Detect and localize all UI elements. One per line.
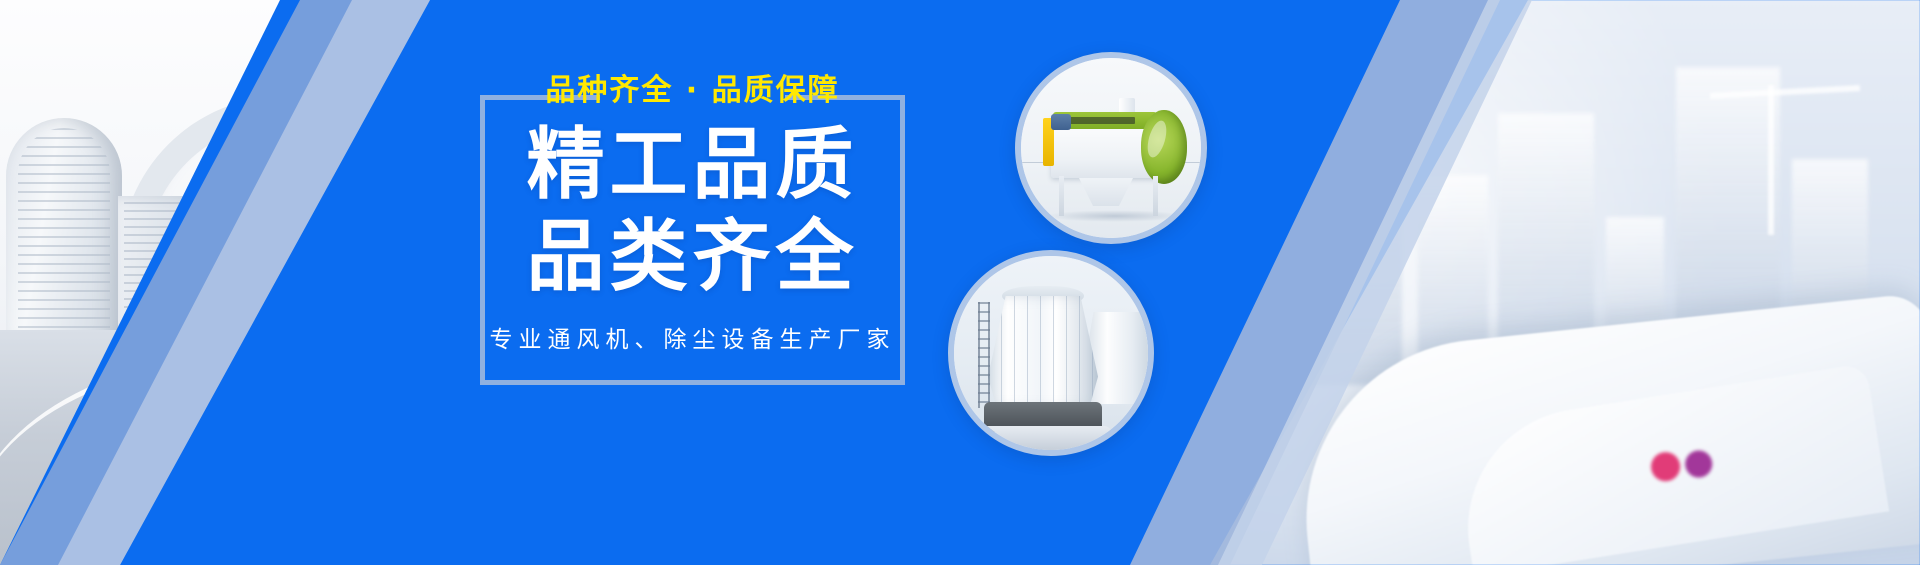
product-1-image bbox=[1021, 58, 1201, 238]
promo-banner: 品种齐全 · 品质保障 精工品质 品类齐全 专业通风机、除尘设备生产厂家 bbox=[0, 0, 1920, 565]
banner-tagline: 品种齐全 · 品质保障 bbox=[480, 68, 905, 114]
cooling-tower-base bbox=[976, 426, 1112, 452]
machine-green-drum bbox=[1141, 110, 1187, 184]
machine-motor bbox=[1051, 114, 1071, 130]
banner-copy: 品种齐全 · 品质保障 精工品质 品类齐全 专业通风机、除尘设备生产厂家 bbox=[480, 68, 905, 356]
banner-subtitle: 专业通风机、除尘设备生产厂家 bbox=[480, 324, 905, 356]
product-2-image bbox=[954, 256, 1148, 450]
product-photo-dust-collector bbox=[1015, 52, 1207, 244]
banner-headline-line-2: 品类齐全 bbox=[480, 216, 905, 298]
machine-leg-left bbox=[1059, 176, 1064, 216]
product-1-shadow bbox=[1045, 210, 1185, 222]
landmark-tower bbox=[6, 118, 122, 348]
product-photo-cooling-tower bbox=[948, 250, 1154, 456]
crane-mast bbox=[1768, 85, 1774, 235]
printed-logo-mark bbox=[1638, 437, 1730, 491]
banner-headline-line-1: 精工品质 bbox=[480, 124, 905, 206]
cooling-tower-ribs bbox=[988, 296, 1098, 408]
cooling-tower-ladder bbox=[978, 302, 990, 408]
machine-leg-right bbox=[1153, 176, 1158, 216]
